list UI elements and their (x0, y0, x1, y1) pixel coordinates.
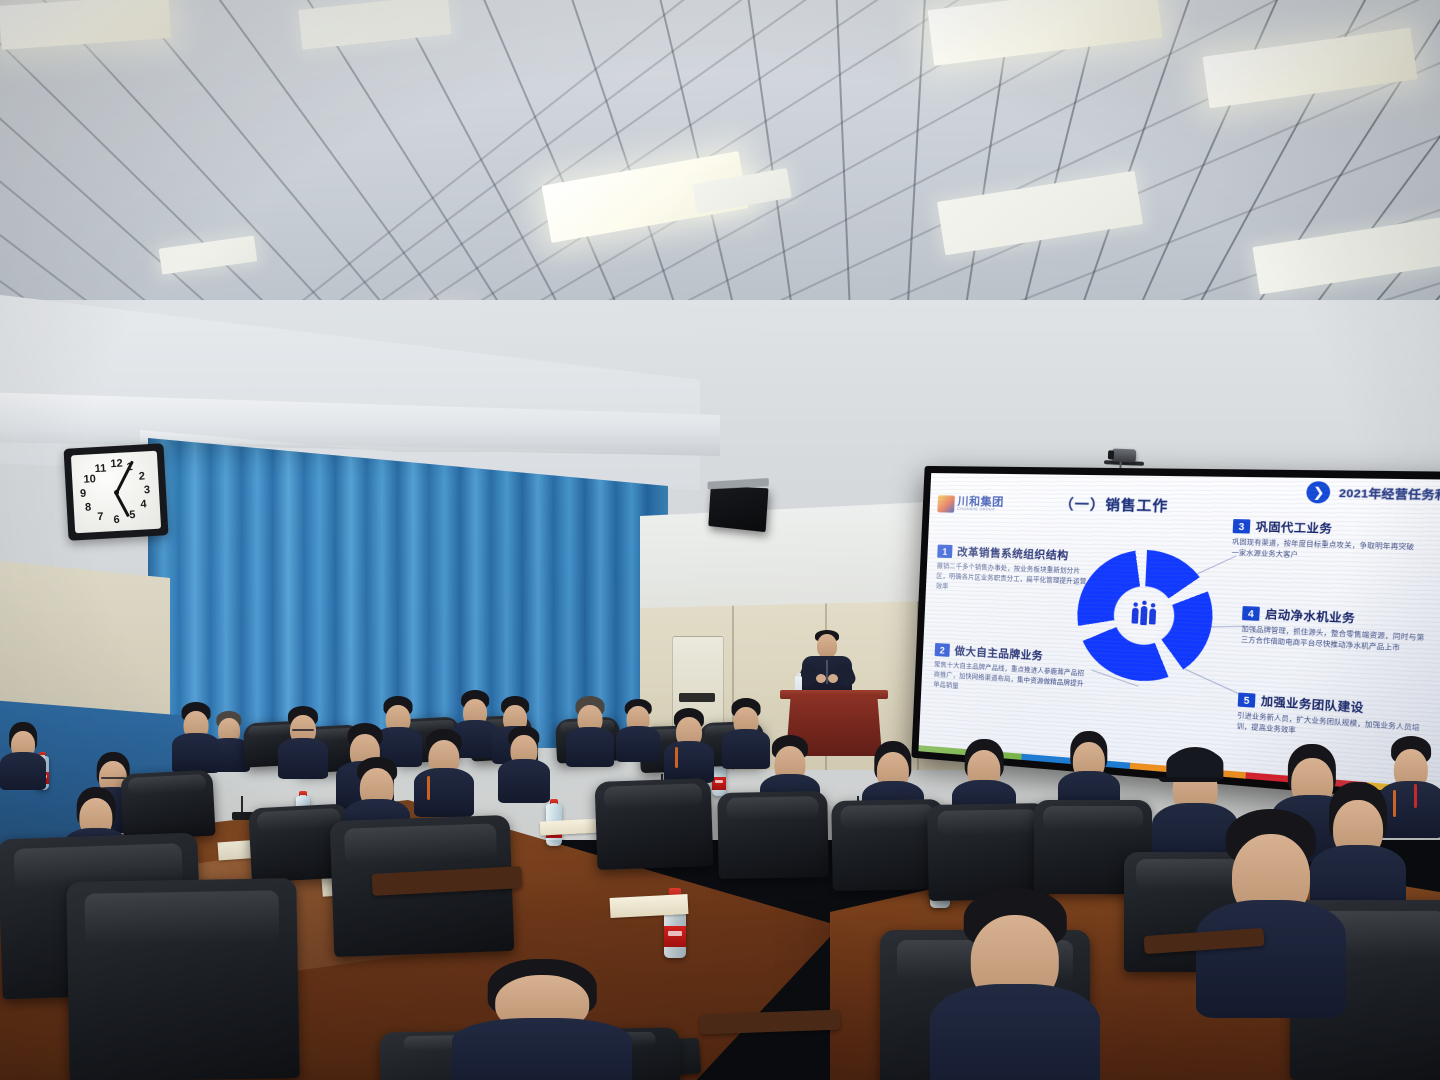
attendee-glasses (101, 777, 125, 779)
item-number-badge: 5 (1238, 693, 1256, 708)
logo-mark-icon (937, 495, 955, 512)
meeting-attendee (172, 706, 220, 770)
black-leather-chair[interactable] (594, 778, 713, 870)
meeting-attendee (664, 712, 714, 780)
slide-header: ❯ 2021年经营任务和经营措施 (1306, 481, 1440, 507)
item-title: 做大自主品牌业务 (954, 643, 1043, 663)
clock-numeral: 11 (94, 463, 106, 475)
uniform-orange-stripe (427, 776, 430, 800)
attendee-torso (0, 752, 46, 790)
item-number-badge: 3 (1233, 519, 1251, 533)
slide-item-5: 5 加强业务团队建设 引进业务新人员，扩大业务团队规模，加强业务人员培训，提高业… (1236, 691, 1426, 745)
attendee-torso (566, 727, 614, 767)
attendee-torso (930, 984, 1100, 1080)
clock-numeral: 1 (126, 462, 133, 473)
black-leather-chair[interactable] (66, 878, 299, 1080)
item-number-badge: 1 (937, 545, 952, 559)
slide-title: （一）销售工作 (1059, 492, 1169, 515)
clock-numeral: 12 (110, 459, 123, 471)
notepad (610, 894, 689, 918)
attendee-torso (452, 1018, 632, 1080)
attendee-torso (664, 741, 714, 783)
meeting-attendee (616, 702, 660, 760)
chair-armrest (700, 1010, 841, 1035)
donut-diagram (1074, 548, 1215, 685)
attendee-torso (414, 768, 474, 818)
company-logo: 川和集团 CHUANHE GROUP (937, 495, 1004, 514)
bottle-label (664, 926, 686, 947)
black-leather-chair[interactable] (927, 803, 1049, 901)
uniform-orange-stripe (675, 747, 678, 767)
lanyard (1414, 784, 1417, 808)
clock-numeral: 5 (129, 510, 136, 521)
item-number-badge: 4 (1242, 606, 1260, 621)
attendee-torso (616, 726, 660, 762)
clock-numeral: 4 (140, 499, 147, 510)
black-leather-chair[interactable] (717, 791, 828, 879)
clock-center-pin (113, 489, 118, 494)
item-body: 加强品牌管理，抓住源头，整合零售端资源，同时与第三方合作借助电商平台尽快推动净水… (1241, 624, 1430, 655)
attendee-glasses (292, 729, 314, 731)
item-number-badge: 2 (935, 643, 950, 657)
black-leather-chair[interactable] (120, 770, 215, 841)
logo-name-en: CHUANHE GROUP (957, 508, 1003, 513)
attendee-cap (1166, 749, 1223, 779)
meeting-attendee (498, 730, 550, 800)
slide-item-3: 3 巩固代工业务 巩固现有渠道，按年度目标重点攻关，争取明年再突破一家水源业务大… (1231, 518, 1421, 565)
attendee-torso (172, 733, 220, 773)
item-title: 改革销售系统组织结构 (957, 544, 1069, 563)
wall-mounted-speaker (708, 486, 768, 532)
chevron-right-icon: ❯ (1306, 481, 1331, 503)
item-title: 巩固代工业务 (1255, 518, 1332, 536)
conference-room-scene: 121234567891011 ❯ 2021年经营任务和经营措施 川和集团 CH… (0, 0, 1440, 1080)
slide-item-4: 4 启动净水机业务 加强品牌管理，抓住源头，整合零售端资源，同时与第三方合作借助… (1241, 605, 1432, 655)
presenter-head (817, 634, 837, 658)
meeting-attendee (0, 726, 46, 788)
item-title: 启动净水机业务 (1265, 606, 1356, 627)
clock-numeral: 7 (97, 512, 104, 523)
attendee-torso (1196, 900, 1346, 1018)
meeting-attendee (1196, 820, 1346, 1010)
item-body: 巩固现有渠道，按年度目标重点攻关，争取明年再突破一家水源业务大客户 (1231, 537, 1420, 564)
bottle-label (712, 777, 726, 789)
meeting-attendee (452, 966, 632, 1080)
meeting-attendee (414, 734, 474, 814)
meeting-attendee (566, 700, 614, 764)
clock-numeral: 2 (139, 471, 146, 482)
attendee-torso (278, 738, 328, 779)
clock-numeral: 6 (113, 515, 120, 526)
display-mounted-video-camera (1112, 448, 1137, 462)
slide-header-text: 2021年经营任务和经营措施 (1339, 484, 1440, 504)
item-body: 撤销二千多个销售办事处，按业务板块重新划分片区，明确各片区业务职责分工，扁平化管… (936, 562, 1091, 598)
slide-item-2: 2 做大自主品牌业务 聚焦十大自主品牌产品线，重点推进人参鹿茸产品招商推广，加快… (933, 642, 1088, 700)
attendee-torso (498, 759, 550, 802)
item-body: 聚焦十大自主品牌产品线，重点推进人参鹿茸产品招商推广，加快网络渠道布局，集中资源… (933, 660, 1087, 700)
clock-numeral: 3 (144, 485, 151, 496)
meeting-attendee (278, 710, 328, 776)
slide-item-1: 1 改革销售系统组织结构 撤销二千多个销售办事处，按业务板块重新划分片区，明确各… (936, 544, 1091, 598)
meeting-attendee (930, 900, 1100, 1080)
